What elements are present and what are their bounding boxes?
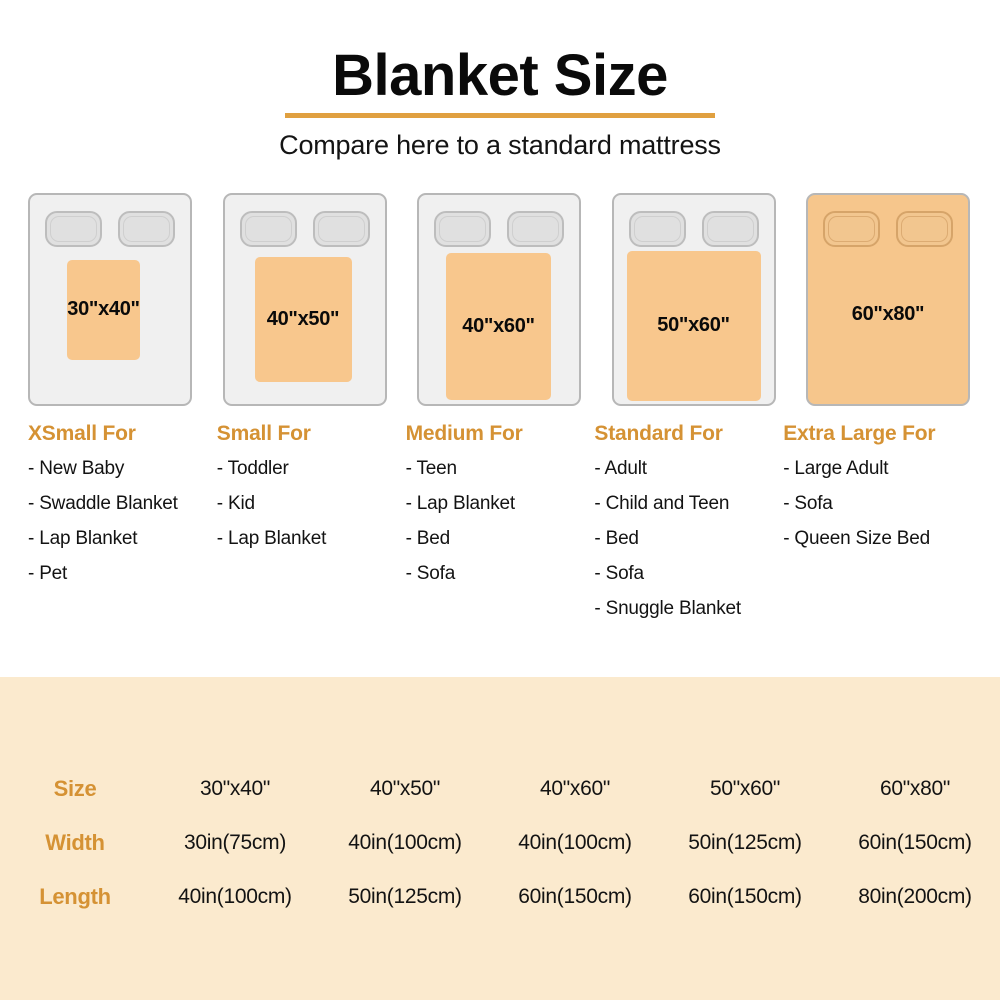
mattress: 40"x50": [223, 193, 387, 406]
list-item: - Sofa: [783, 493, 972, 515]
list-item: - Lap Blanket: [28, 528, 217, 550]
table-cell: 60in(150cm): [660, 870, 830, 924]
spec-table: Size 30"x40" 40"x50" 40"x60" 50"x60" 60"…: [0, 762, 1000, 924]
blanket-size-label: 30"x40": [67, 298, 139, 321]
list-item: - Large Adult: [783, 458, 972, 480]
pillow-icon: [118, 211, 175, 247]
table-cell: 40in(100cm): [490, 816, 660, 870]
usage-list-heading: Extra Large For: [783, 422, 972, 446]
mattress: 30"x40": [28, 193, 192, 406]
table-row: Size 30"x40" 40"x50" 40"x60" 50"x60" 60"…: [0, 762, 1000, 816]
list-item: - Bed: [406, 528, 595, 550]
table-row: Width 30in(75cm) 40in(100cm) 40in(100cm)…: [0, 816, 1000, 870]
mattress: 60"x80": [806, 193, 970, 406]
pillow-icon: [434, 211, 491, 247]
blanket-size-label: 50"x60": [657, 314, 729, 337]
usage-lists-row: XSmall For - New Baby - Swaddle Blanket …: [0, 422, 1000, 633]
table-cell: 40"x50": [320, 762, 490, 816]
usage-list-heading: Standard For: [594, 422, 783, 446]
table-cell: 60in(150cm): [830, 816, 1000, 870]
usage-list-heading: Small For: [217, 422, 406, 446]
table-cell: 30"x40": [150, 762, 320, 816]
usage-list-heading: XSmall For: [28, 422, 217, 446]
pillow-icon: [45, 211, 102, 247]
mattress: 40"x60": [417, 193, 581, 406]
list-item: - Toddler: [217, 458, 406, 480]
table-cell: 30in(75cm): [150, 816, 320, 870]
list-item: - Lap Blanket: [406, 493, 595, 515]
list-item: - New Baby: [28, 458, 217, 480]
row-label-width: Width: [0, 816, 150, 870]
usage-list-small: Small For - Toddler - Kid - Lap Blanket: [217, 422, 406, 633]
bed-diagram-standard: 50"x60": [612, 193, 778, 406]
list-item: - Swaddle Blanket: [28, 493, 217, 515]
table-cell: 50in(125cm): [660, 816, 830, 870]
list-item: - Queen Size Bed: [783, 528, 972, 550]
usage-list-heading: Medium For: [406, 422, 595, 446]
table-cell: 40in(100cm): [150, 870, 320, 924]
bed-diagram-extra-large: 60"x80": [806, 193, 972, 406]
mattress: 50"x60": [612, 193, 776, 406]
blanket-size-label: 40"x50": [267, 308, 339, 331]
bed-diagram-medium: 40"x60": [417, 193, 583, 406]
table-cell: 50in(125cm): [320, 870, 490, 924]
pillow-icon: [507, 211, 564, 247]
table-row: Length 40in(100cm) 50in(125cm) 60in(150c…: [0, 870, 1000, 924]
usage-list-medium: Medium For - Teen - Lap Blanket - Bed - …: [406, 422, 595, 633]
page-title: Blanket Size: [332, 46, 668, 107]
list-item: - Teen: [406, 458, 595, 480]
bed-diagram-xsmall: 30"x40": [28, 193, 194, 406]
usage-list-standard: Standard For - Adult - Child and Teen - …: [594, 422, 783, 633]
bed-diagram-small: 40"x50": [223, 193, 389, 406]
bed-diagrams-row: 30"x40" 40"x50" 40"x60" 50"x60": [0, 193, 1000, 406]
list-item: - Kid: [217, 493, 406, 515]
pillow-icon: [702, 211, 759, 247]
usage-list-extra-large: Extra Large For - Large Adult - Sofa - Q…: [783, 422, 972, 633]
blanket-rect: 40"x60": [446, 253, 551, 400]
table-cell: 50"x60": [660, 762, 830, 816]
pillow-icon: [313, 211, 370, 247]
blanket-rect: 60"x80": [808, 195, 968, 404]
blanket-size-label: 40"x60": [462, 315, 534, 338]
row-label-size: Size: [0, 762, 150, 816]
page-subtitle: Compare here to a standard mattress: [0, 130, 1000, 161]
blanket-size-label: 60"x80": [852, 303, 924, 326]
blanket-rect: 30"x40": [67, 260, 140, 360]
table-cell: 40in(100cm): [320, 816, 490, 870]
list-item: - Pet: [28, 563, 217, 585]
pillow-icon: [240, 211, 297, 247]
table-cell: 40"x60": [490, 762, 660, 816]
blanket-rect: 50"x60": [627, 251, 761, 401]
row-label-length: Length: [0, 870, 150, 924]
list-item: - Child and Teen: [594, 493, 783, 515]
usage-list-xsmall: XSmall For - New Baby - Swaddle Blanket …: [28, 422, 217, 633]
list-item: - Lap Blanket: [217, 528, 406, 550]
table-cell: 60"x80": [830, 762, 1000, 816]
title-underline: [285, 113, 715, 118]
blanket-rect: 40"x50": [255, 257, 352, 382]
pillow-icon: [629, 211, 686, 247]
spec-panel: Size 30"x40" 40"x50" 40"x60" 50"x60" 60"…: [0, 677, 1000, 1000]
header: Blanket Size Compare here to a standard …: [0, 0, 1000, 161]
list-item: - Bed: [594, 528, 783, 550]
table-cell: 60in(150cm): [490, 870, 660, 924]
list-item: - Sofa: [594, 563, 783, 585]
table-cell: 80in(200cm): [830, 870, 1000, 924]
list-item: - Sofa: [406, 563, 595, 585]
list-item: - Snuggle Blanket: [594, 598, 783, 620]
list-item: - Adult: [594, 458, 783, 480]
